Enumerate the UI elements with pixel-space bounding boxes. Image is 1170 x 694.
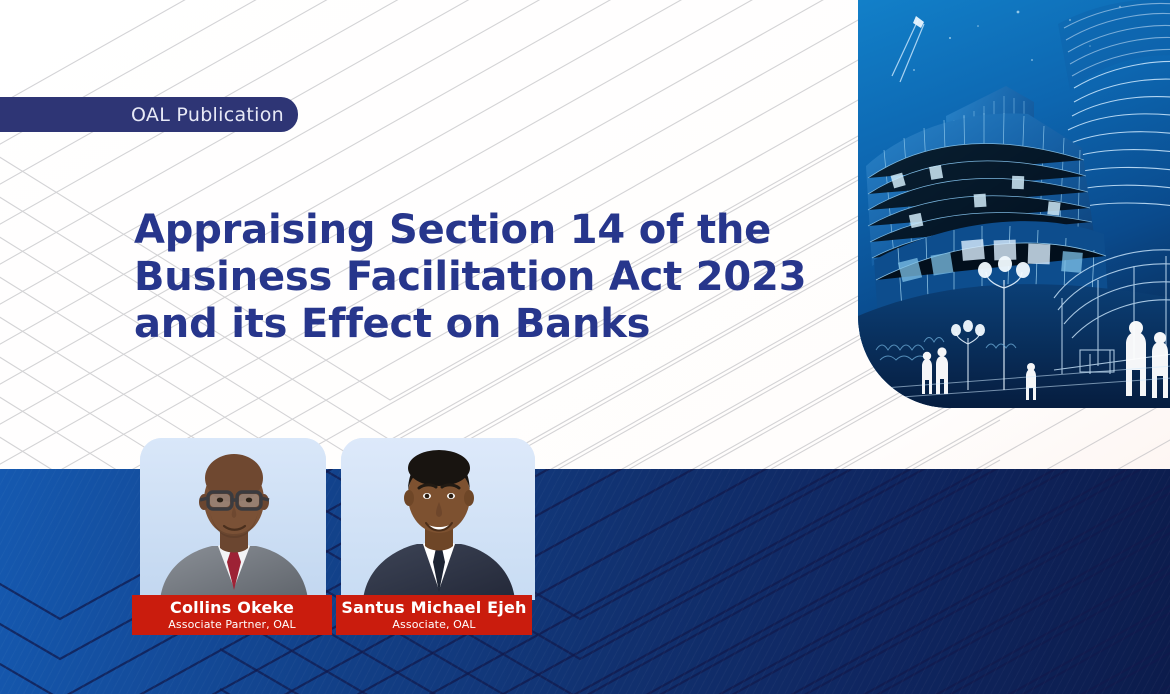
- author-name-2: Santus Michael Ejeh: [341, 598, 526, 617]
- portrait-santus-michael-ejeh-icon: [341, 438, 535, 600]
- avatar: [341, 438, 535, 600]
- author-photo-2: [341, 438, 535, 600]
- publication-badge-label: OAL Publication: [131, 104, 284, 126]
- author-role-2: Associate, OAL: [392, 618, 475, 632]
- author-nameplate-1: Collins Okeke Associate Partner, OAL: [132, 595, 332, 635]
- publication-banner: OAL Publication Appraising Section 14 of…: [0, 0, 1170, 694]
- page-title: Appraising Section 14 of the Business Fa…: [134, 207, 834, 348]
- author-name-1: Collins Okeke: [170, 598, 294, 617]
- title-line-2: Business Facilitation Act 2023: [134, 254, 834, 301]
- city-buildings-icon: [858, 0, 1170, 408]
- author-role-1: Associate Partner, OAL: [168, 618, 295, 632]
- avatar: [140, 438, 326, 600]
- author-nameplate-2: Santus Michael Ejeh Associate, OAL: [336, 595, 532, 635]
- title-line-3: and its Effect on Banks: [134, 301, 834, 348]
- portrait-collins-okeke-icon: [140, 438, 326, 600]
- cityscape-illustration: [858, 0, 1170, 408]
- title-line-1: Appraising Section 14 of the: [134, 207, 834, 254]
- publication-badge: OAL Publication: [0, 97, 298, 132]
- author-photo-1: [140, 438, 326, 600]
